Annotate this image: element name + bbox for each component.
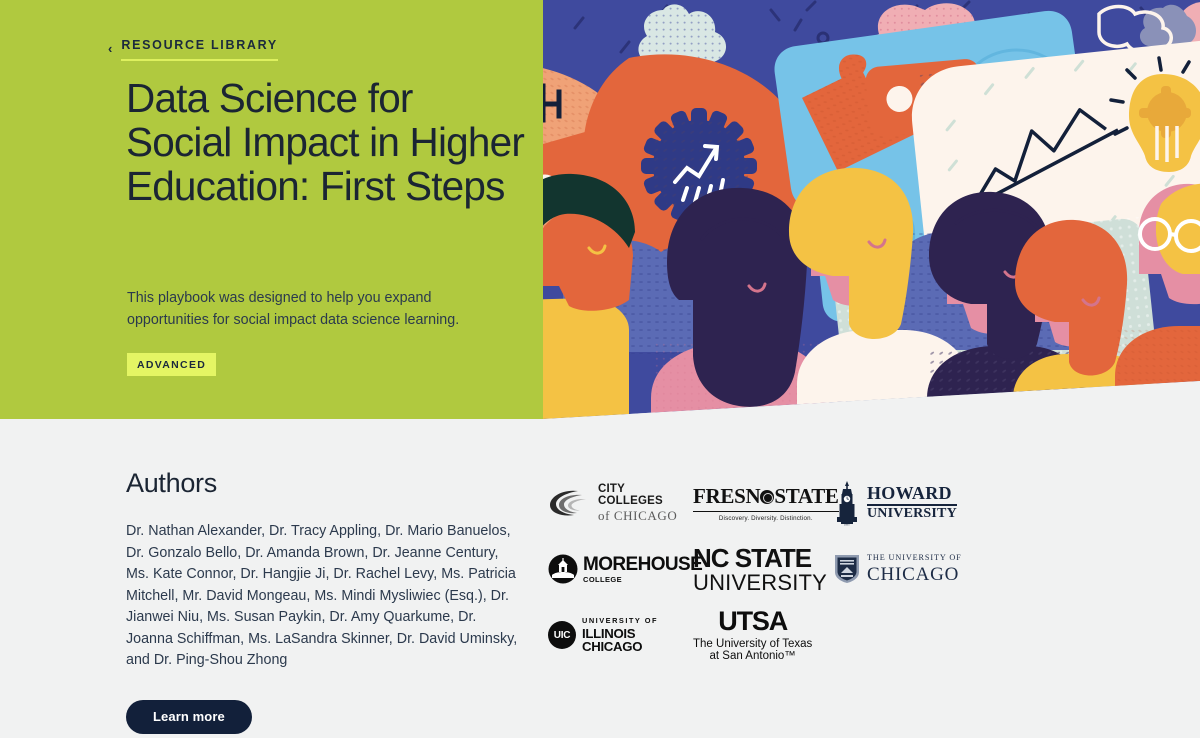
logo-city-colleges-of-chicago[interactable]: CITY COLLEGES of CHICAGO [548, 470, 691, 536]
seal-icon [548, 554, 578, 584]
swoosh-mark-icon [548, 488, 592, 518]
logo-text-line2: of CHICAGO [598, 509, 691, 522]
logo-utsa[interactable]: UTSA The University of Texas at San Anto… [691, 602, 834, 668]
globe-icon [760, 490, 774, 504]
hero-illustration [543, 0, 1200, 420]
shield-icon [834, 554, 860, 584]
authors-heading: Authors [126, 468, 526, 499]
learn-more-button[interactable]: Learn more [126, 700, 252, 734]
hero-illustration-art [543, 0, 1200, 420]
logo-text-line1: UTSA [718, 608, 787, 635]
logo-text-line1: CITY COLLEGES [598, 484, 691, 507]
logo-tagline: Discovery. Diversity. Distinction. [719, 515, 813, 522]
logo-text-line3: at San Antonio™ [710, 651, 796, 663]
logo-text-line1: NC STATE [693, 545, 827, 571]
partner-logo-grid: CITY COLLEGES of CHICAGO FRESN STATE Dis… [548, 470, 977, 668]
hero-text-panel [0, 0, 544, 419]
logo-text-line1: MOREHOUSE [583, 555, 702, 574]
logo-cell-empty [834, 602, 977, 668]
logo-text-line1: THE UNIVERSITY OF [867, 554, 962, 562]
logo-text-line2: COLLEGE [583, 576, 702, 584]
logo-text-line2: UNIVERSITY [693, 572, 827, 594]
chevron-left-icon[interactable]: ‹ [108, 42, 112, 55]
clock-tower-icon: 1867 [834, 480, 860, 526]
logo-morehouse-college[interactable]: MOREHOUSE COLLEGE [548, 536, 691, 602]
hero-section: ‹ RESOURCE LIBRARY Data Science for Soci… [0, 0, 1200, 420]
resource-page: ‹ RESOURCE LIBRARY Data Science for Soci… [0, 0, 1200, 738]
divider [693, 511, 839, 513]
logo-text-line2: The University of Texas [693, 639, 812, 651]
logo-text-line2: UNIVERSITY [867, 507, 957, 521]
authors-list: Dr. Nathan Alexander, Dr. Tracy Appling,… [126, 521, 520, 672]
logo-text-part1: FRESN [693, 484, 760, 509]
logo-university-of-illinois-chicago[interactable]: UIC UNIVERSITY OF ILLINOIS CHICAGO [548, 602, 691, 668]
hero-description: This playbook was designed to help you e… [127, 287, 487, 331]
logo-fresno-state[interactable]: FRESN STATE Discovery. Diversity. Distin… [691, 470, 834, 536]
logo-howard-university[interactable]: 1867 HOWARD UNIVERSITY [834, 470, 977, 536]
breadcrumb[interactable]: ‹ RESOURCE LIBRARY [108, 38, 278, 61]
logo-text-line2: ILLINOIS CHICAGO [582, 627, 691, 653]
breadcrumb-resource-library-link[interactable]: RESOURCE LIBRARY [121, 38, 278, 61]
logo-text-line1: UNIVERSITY OF [582, 617, 691, 624]
logo-university-of-chicago[interactable]: THE UNIVERSITY OF CHICAGO [834, 536, 977, 602]
logo-text-line2: CHICAGO [867, 565, 962, 584]
logo-text-part2: STATE [774, 484, 838, 509]
authors-section: Authors Dr. Nathan Alexander, Dr. Tracy … [126, 468, 526, 734]
svg-text:1867: 1867 [844, 523, 851, 526]
page-title: Data Science for Social Impact in Higher… [126, 76, 526, 208]
logo-text-line1: HOWARD [867, 484, 957, 502]
uic-monogram: UIC [548, 621, 576, 649]
logo-nc-state-university[interactable]: NC STATE UNIVERSITY [691, 536, 834, 602]
status-badge-level: ADVANCED [127, 353, 216, 376]
